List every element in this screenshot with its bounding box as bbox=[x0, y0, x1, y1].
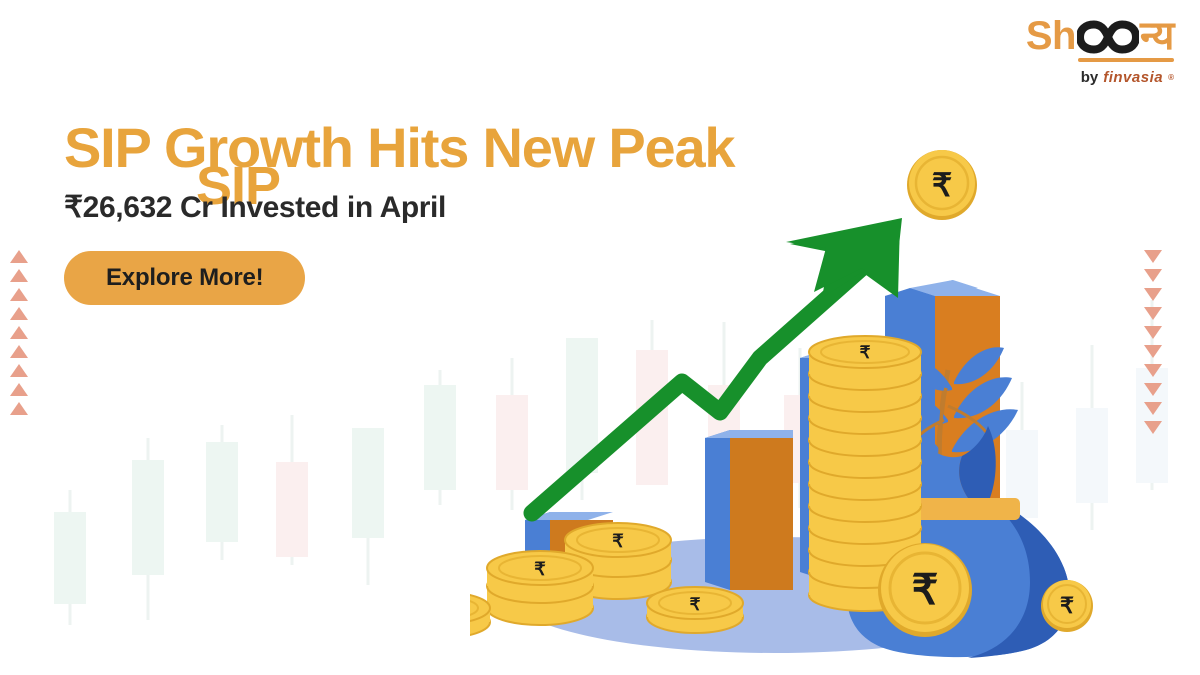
triangle-up-icon bbox=[10, 383, 28, 396]
triangle-down-icon bbox=[1144, 269, 1162, 282]
small-rupee-coin-right: ₹ bbox=[1041, 580, 1093, 632]
floating-rupee-coin: ₹ bbox=[907, 150, 977, 220]
triangle-up-icon bbox=[10, 364, 28, 377]
triangle-down-icon bbox=[1144, 307, 1162, 320]
svg-text:₹: ₹ bbox=[1060, 593, 1074, 618]
page-subtitle: ₹26,632 Cr Invested in April bbox=[64, 190, 734, 225]
triangle-down-icon bbox=[1144, 326, 1162, 339]
brand-logo[interactable]: Sh न्य by finvasia ® bbox=[1026, 16, 1174, 86]
banner-canvas: Sh न्य by finvasia ® SIP Growth Hits New… bbox=[0, 0, 1200, 675]
triangle-up-icon bbox=[10, 288, 28, 301]
triangle-down-icon bbox=[1144, 345, 1162, 358]
svg-text:₹: ₹ bbox=[534, 559, 546, 579]
triangle-up-icon bbox=[10, 307, 28, 320]
registered-mark-icon: ® bbox=[1168, 73, 1174, 82]
bar-2 bbox=[705, 430, 793, 590]
triangle-down-icon bbox=[1144, 383, 1162, 396]
svg-text:₹: ₹ bbox=[860, 343, 871, 362]
page-title: SIP Growth Hits New Peak bbox=[64, 118, 734, 177]
triangle-up-icon bbox=[10, 402, 28, 415]
logo-wordmark: Sh न्य bbox=[1026, 16, 1174, 56]
logo-underline bbox=[1078, 58, 1174, 62]
triangle-up-icon bbox=[10, 250, 28, 263]
logo-text-sh: Sh bbox=[1026, 16, 1076, 56]
triangle-down-icon bbox=[1144, 402, 1162, 415]
infinity-icon bbox=[1077, 20, 1139, 54]
triangle-down-icon bbox=[1144, 288, 1162, 301]
svg-text:₹: ₹ bbox=[690, 595, 701, 614]
logo-byline: by finvasia ® bbox=[1026, 69, 1174, 86]
triangle-up-icon bbox=[10, 326, 28, 339]
hero-copy-block: SIP Growth Hits New Peak ₹26,632 Cr Inve… bbox=[64, 118, 734, 305]
decor-triangles-left bbox=[10, 250, 28, 415]
svg-text:₹: ₹ bbox=[612, 531, 624, 551]
logo-by-label: by bbox=[1081, 69, 1099, 86]
triangle-up-icon bbox=[10, 269, 28, 282]
triangle-down-icon bbox=[1144, 364, 1162, 377]
svg-text:₹: ₹ bbox=[932, 167, 952, 203]
upright-rupee-coin: ₹ bbox=[878, 543, 972, 637]
svg-text:₹: ₹ bbox=[912, 566, 939, 613]
triangle-up-icon bbox=[10, 345, 28, 358]
triangle-down-icon bbox=[1144, 250, 1162, 263]
decor-triangles-right bbox=[1144, 250, 1162, 434]
triangle-down-icon bbox=[1144, 421, 1162, 434]
logo-company-name: finvasia bbox=[1103, 69, 1163, 86]
logo-text-nya: न्य bbox=[1140, 16, 1174, 56]
explore-more-button[interactable]: Explore More! bbox=[64, 251, 305, 305]
